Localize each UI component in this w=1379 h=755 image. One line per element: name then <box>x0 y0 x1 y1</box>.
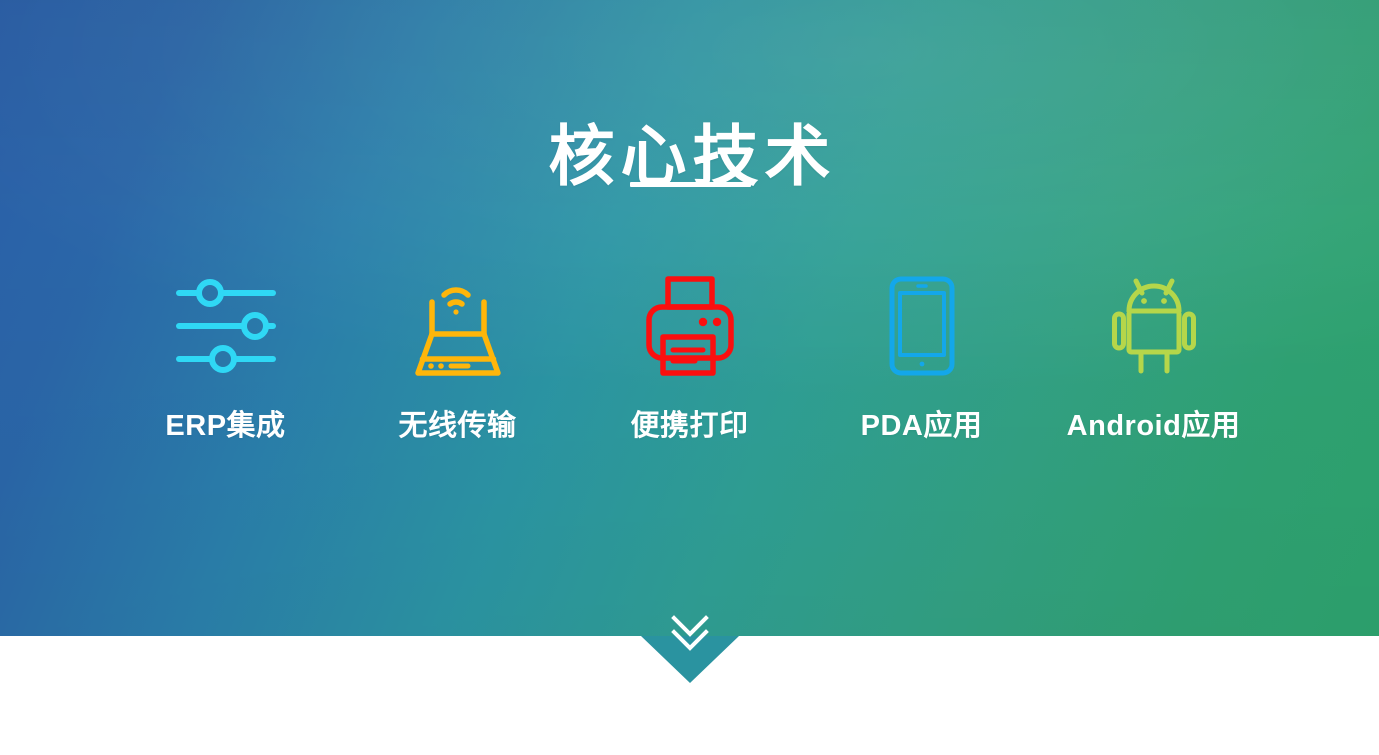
slide-root: 核心技术 <box>0 0 1379 755</box>
feature-item-printer[interactable]: 便携打印 <box>574 272 806 444</box>
feature-item-android[interactable]: Android应用 <box>1038 272 1270 444</box>
title-underline-divider <box>630 182 751 187</box>
sliders-settings-icon <box>175 272 277 380</box>
section-title-wrap: 核心技术 <box>0 78 1379 236</box>
hero-gradient-section: 核心技术 <box>0 0 1379 636</box>
feature-label-pda: PDA应用 <box>861 402 983 444</box>
wireless-router-icon <box>410 272 506 380</box>
tablet-device-icon <box>889 272 955 380</box>
feature-label-printer: 便携打印 <box>630 402 748 444</box>
android-robot-icon <box>1114 272 1194 380</box>
double-chevron-down-icon[interactable] <box>666 608 714 656</box>
feature-label-wireless: 无线传输 <box>398 402 516 444</box>
printer-icon <box>645 272 735 380</box>
feature-label-erp: ERP集成 <box>165 402 285 444</box>
feature-item-wireless[interactable]: 无线传输 <box>342 272 574 444</box>
feature-list: ERP集成 <box>0 272 1379 444</box>
feature-item-pda[interactable]: PDA应用 <box>806 272 1038 444</box>
feature-label-android: Android应用 <box>1067 402 1241 444</box>
feature-item-erp[interactable]: ERP集成 <box>110 272 342 444</box>
